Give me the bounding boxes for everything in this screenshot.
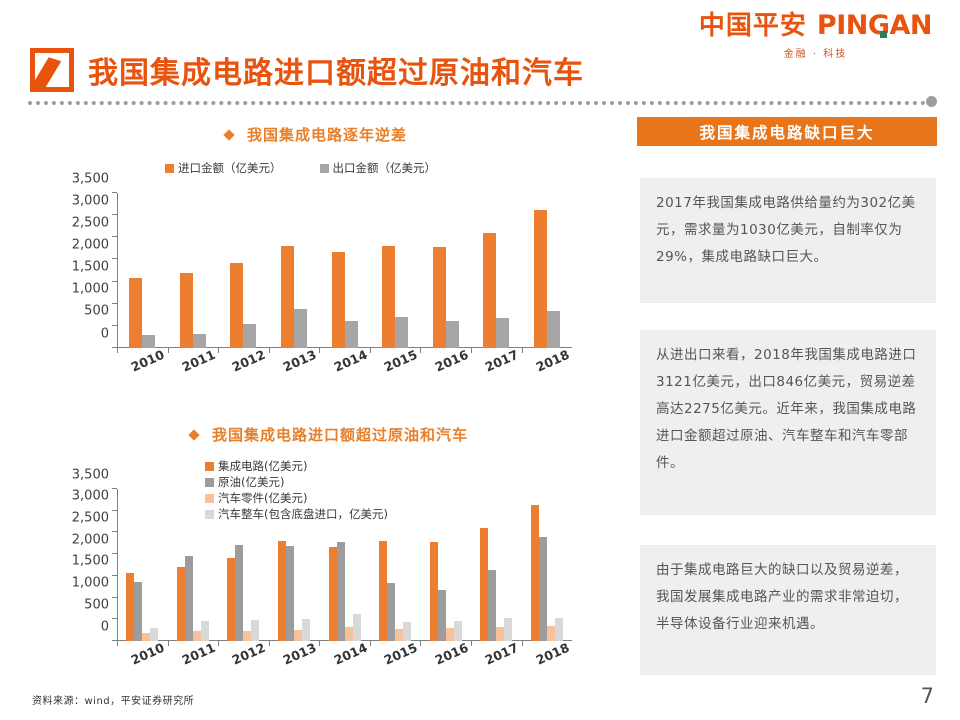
x-axis-label: 2011: [179, 347, 217, 375]
legend-item: 进口金额（亿美元）: [165, 160, 282, 176]
bar: [294, 630, 302, 641]
page-title: 我国集成电路进口额超过原油和汽车: [88, 48, 584, 92]
bar-group: 2018: [522, 489, 573, 641]
bar: [177, 567, 185, 641]
bar: [302, 619, 310, 641]
x-axis-label: 2011: [179, 640, 217, 668]
info-box-3: 由于集成电路巨大的缺口以及贸易逆差，我国发展集成电路产业的需求非常迫切，半导体设…: [640, 545, 936, 675]
bar: [438, 590, 446, 641]
chart-2-plot: 201020112012201320142015201620172018 050…: [117, 489, 572, 641]
x-axis-tick: [168, 348, 169, 353]
bar: [433, 247, 446, 348]
x-axis-tick: [471, 348, 472, 353]
bar: [126, 573, 134, 641]
y-axis-label: 3,500: [72, 171, 109, 186]
x-axis-label: 2013: [281, 640, 319, 668]
bar-group: 2018: [522, 193, 573, 348]
y-axis-label: 1,500: [72, 260, 109, 275]
bar-group: 2014: [319, 193, 370, 348]
chart-1-legend: 进口金额（亿美元）出口金额（亿美元）: [165, 160, 436, 176]
header-divider-dot-icon: [926, 96, 937, 107]
bar: [430, 542, 438, 641]
x-axis-label: 2018: [533, 347, 571, 375]
bar: [454, 621, 462, 641]
x-axis-label: 2015: [382, 347, 420, 375]
bar: [142, 335, 155, 348]
x-axis-label: 2010: [129, 640, 167, 668]
y-axis-tick: [112, 510, 117, 511]
x-axis-label: 2010: [129, 347, 167, 375]
y-axis-tick: [112, 347, 117, 348]
x-axis-label: 2014: [331, 347, 369, 375]
bar: [243, 324, 256, 348]
bar: [353, 614, 361, 641]
y-axis-label: 2,000: [72, 532, 109, 547]
bar: [547, 311, 560, 348]
bar: [185, 556, 193, 641]
slide-header: 我国集成电路进口额超过原油和汽车: [30, 48, 584, 92]
logo-tagline: 金融 · 科技: [699, 45, 932, 60]
bar: [329, 547, 337, 642]
bar: [488, 570, 496, 641]
header-divider: [28, 101, 926, 105]
bar: [227, 558, 235, 641]
x-axis-tick: [522, 641, 523, 646]
bar-group: 2014: [319, 489, 370, 641]
logo-english-text: PINGAN: [817, 12, 932, 39]
logo-chinese-text: 中国平安: [699, 13, 807, 39]
bar: [539, 537, 547, 641]
bar-group: 2013: [269, 193, 320, 348]
bar: [345, 627, 353, 641]
y-axis-label: 2,500: [72, 510, 109, 525]
legend-label: 集成电路(亿美元): [218, 458, 307, 474]
x-axis-label: 2016: [432, 640, 470, 668]
bar-group: 2015: [370, 489, 421, 641]
y-axis-label: 3,000: [72, 489, 109, 504]
bar-group: 2016: [420, 489, 471, 641]
diamond-bullet-icon: [223, 129, 234, 140]
bar: [150, 628, 158, 641]
y-axis-tick: [112, 531, 117, 532]
bar: [345, 321, 358, 348]
x-axis-tick: [117, 641, 118, 646]
y-axis-tick: [112, 325, 117, 326]
bar: [193, 631, 201, 641]
x-axis-label: 2018: [533, 640, 571, 668]
right-banner: 我国集成电路缺口巨大: [637, 117, 937, 146]
y-axis-label: 2,000: [72, 237, 109, 252]
bar: [230, 263, 243, 348]
x-axis-tick: [370, 348, 371, 353]
legend-swatch-icon: [320, 164, 329, 173]
y-axis-label: 1,500: [72, 554, 109, 569]
y-axis-label: 0: [101, 619, 109, 634]
legend-label: 进口金额（亿美元）: [178, 160, 282, 176]
bar: [382, 246, 395, 348]
bar: [243, 631, 251, 641]
y-axis-tick: [112, 192, 117, 193]
bar: [496, 627, 504, 641]
legend-swatch-icon: [205, 478, 214, 487]
y-axis-label: 500: [84, 304, 109, 319]
y-axis-tick: [112, 597, 117, 598]
bar-group: 2011: [168, 489, 219, 641]
legend-label: 原油(亿美元): [218, 474, 284, 490]
y-axis-tick: [112, 575, 117, 576]
x-axis-label: 2017: [483, 347, 521, 375]
y-axis-label: 0: [101, 326, 109, 341]
x-axis-tick: [269, 641, 270, 646]
y-axis-tick: [112, 488, 117, 489]
bar: [496, 318, 509, 348]
bar: [531, 505, 539, 641]
brand-logo: 中国平安 PINGAN 金融 · 科技: [699, 12, 932, 60]
y-axis-label: 2,500: [72, 215, 109, 230]
legend-item: 出口金额（亿美元）: [320, 160, 437, 176]
x-axis-tick: [269, 348, 270, 353]
x-axis-tick: [319, 641, 320, 646]
x-axis-tick: [168, 641, 169, 646]
y-axis-label: 1,000: [72, 282, 109, 297]
bar: [201, 621, 209, 641]
section-header-2-label: 我国集成电路进口额超过原油和汽车: [212, 424, 468, 445]
x-axis-tick: [522, 348, 523, 353]
y-axis-tick: [112, 258, 117, 259]
x-axis-tick: [319, 348, 320, 353]
y-axis-tick: [112, 303, 117, 304]
bar: [337, 542, 345, 641]
bar: [446, 628, 454, 641]
bar-group: 2013: [269, 489, 320, 641]
y-axis-tick: [112, 618, 117, 619]
bar-group: 2017: [471, 489, 522, 641]
y-axis-label: 1,000: [72, 576, 109, 591]
page-number: 7: [921, 684, 934, 708]
logo-green-square-icon: [880, 31, 887, 38]
bar: [129, 278, 142, 348]
chart-1-plot: 201020112012201320142015201620172018 050…: [117, 193, 572, 348]
bar: [251, 620, 259, 641]
x-axis-tick: [117, 348, 118, 353]
legend-item: 集成电路(亿美元): [205, 458, 388, 474]
y-axis-tick: [112, 236, 117, 237]
x-axis-tick: [218, 641, 219, 646]
slide-root: 中国平安 PINGAN 金融 · 科技 我国集成电路进口额超过原油和汽车 我国集…: [0, 0, 960, 720]
bar: [555, 618, 563, 641]
y-axis-tick: [112, 281, 117, 282]
x-axis-label: 2014: [331, 640, 369, 668]
bar: [180, 273, 193, 348]
legend-item: 原油(亿美元): [205, 474, 388, 490]
chart-import-export-deficit: 进口金额（亿美元）出口金额（亿美元） 201020112012201320142…: [0, 155, 610, 405]
source-note: 资料来源：wind，平安证券研究所: [32, 692, 194, 707]
section-header-2: 我国集成电路进口额超过原油和汽车: [190, 424, 468, 445]
bar: [395, 629, 403, 641]
bar: [286, 546, 294, 641]
y-axis-tick: [112, 214, 117, 215]
y-axis-label: 3,000: [72, 193, 109, 208]
bar: [534, 210, 547, 348]
legend-label: 出口金额（亿美元）: [333, 160, 437, 176]
y-axis-label: 500: [84, 597, 109, 612]
legend-swatch-icon: [165, 164, 174, 173]
bar: [294, 309, 307, 348]
bar-group: 2017: [471, 193, 522, 348]
x-axis-label: 2012: [230, 640, 268, 668]
diamond-bullet-icon: [188, 429, 199, 440]
y-axis-tick: [112, 640, 117, 641]
bar-group: 2015: [370, 193, 421, 348]
bar-group: 2010: [117, 193, 168, 348]
bar: [193, 334, 206, 348]
section-header-1: 我国集成电路逐年逆差: [225, 124, 407, 145]
bar: [278, 541, 286, 641]
bar: [403, 622, 411, 641]
x-axis-label: 2012: [230, 347, 268, 375]
bar: [235, 545, 243, 641]
bar: [480, 528, 488, 641]
x-axis-tick: [370, 641, 371, 646]
x-axis-tick: [471, 641, 472, 646]
x-axis-tick: [218, 348, 219, 353]
bar: [547, 626, 555, 641]
bar: [483, 233, 496, 348]
bar-group: 2011: [168, 193, 219, 348]
info-box-2: 从进出口来看，2018年我国集成电路进口3121亿美元，出口846亿美元，贸易逆…: [640, 330, 936, 515]
bar: [379, 541, 387, 641]
info-box-1: 2017年我国集成电路供给量约为302亿美元，需求量为1030亿美元，自制率仅为…: [640, 178, 936, 303]
bar: [134, 582, 142, 641]
bar: [332, 252, 345, 348]
x-axis-label: 2013: [281, 347, 319, 375]
bar-group: 2010: [117, 489, 168, 641]
x-axis-label: 2015: [382, 640, 420, 668]
legend-swatch-icon: [205, 462, 214, 471]
bar: [446, 321, 459, 348]
chart-ic-vs-oil-auto: 集成电路(亿美元)原油(亿美元)汽车零件(亿美元)汽车整车(包含底盘进口，亿美元…: [0, 452, 610, 702]
bar: [142, 633, 150, 641]
x-axis-tick: [420, 641, 421, 646]
section-header-1-label: 我国集成电路逐年逆差: [247, 124, 407, 145]
bar: [281, 246, 294, 348]
x-axis-label: 2016: [432, 347, 470, 375]
bar-group: 2012: [218, 193, 269, 348]
y-axis-tick: [112, 553, 117, 554]
y-axis-label: 3,500: [72, 467, 109, 482]
bar: [395, 317, 408, 348]
bar: [504, 618, 512, 641]
x-axis-tick: [420, 348, 421, 353]
logo-english-label: PINGAN: [817, 10, 932, 41]
bar: [387, 583, 395, 641]
x-axis-label: 2017: [483, 640, 521, 668]
pencil-edit-icon: [30, 48, 74, 92]
bar-group: 2016: [420, 193, 471, 348]
bar-group: 2012: [218, 489, 269, 641]
